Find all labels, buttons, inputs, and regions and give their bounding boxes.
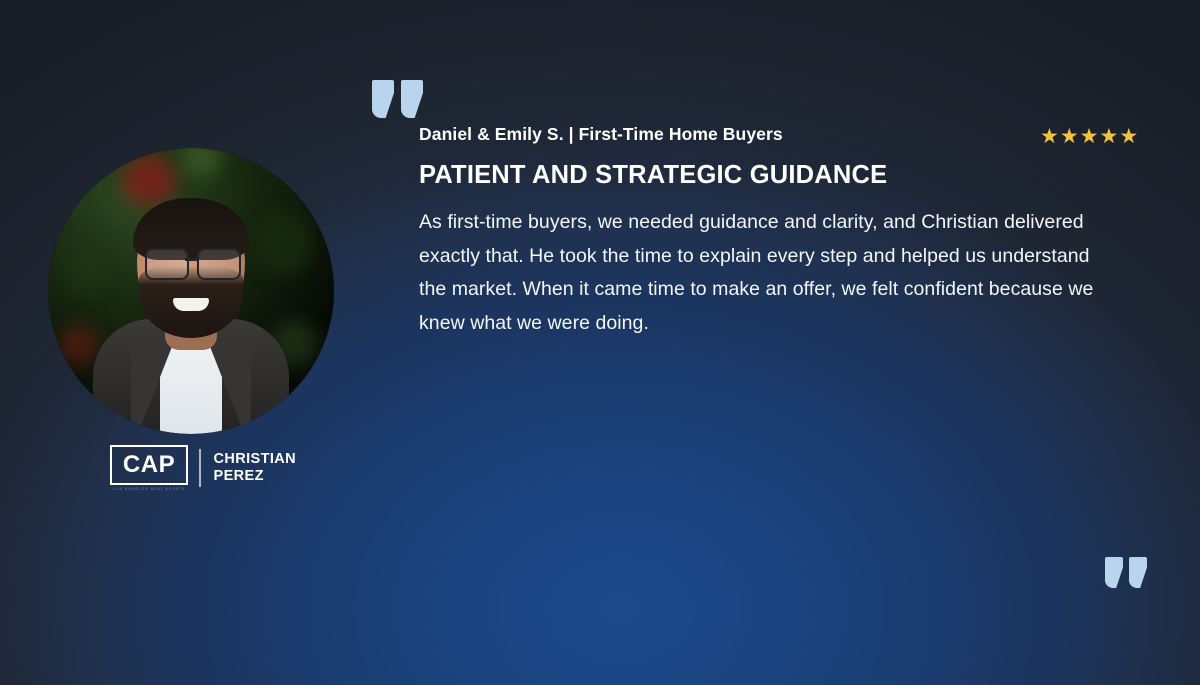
portrait-smile [173,298,209,311]
bokeh-green-2 [65,234,109,294]
portrait-lapel-left [131,339,175,434]
cap-logo-tagline: LOS ANGELES REAL ESTATE [113,488,185,491]
testimonial-content: Daniel & Emily S. | First-Time Home Buye… [419,124,1119,340]
agent-portrait [48,148,334,434]
quote-close-glyph-2 [1129,557,1147,588]
testimonial-attribution: Daniel & Emily S. | First-Time Home Buye… [419,124,1119,145]
cap-logo-box: CAP [110,445,188,485]
quote-close-glyph-1 [1105,557,1123,588]
testimonial-headline: PATIENT AND STRATEGIC GUIDANCE [419,161,1119,190]
portrait-eyeglass-left [145,248,189,280]
quote-close-icon [1105,557,1147,588]
portrait-eyeglass-right [197,248,241,280]
portrait-image [48,148,334,434]
cap-logo-text: CAP [123,453,175,477]
quote-open-glyph-2 [401,80,423,118]
agent-name-last: PEREZ [214,468,297,485]
portrait-eyeglass-bridge [185,258,197,261]
agent-name: CHRISTIAN PEREZ [214,451,297,485]
bokeh-green-3 [254,211,312,275]
agent-name-first: CHRISTIAN [214,451,297,468]
star-icon-5: ★ [1119,126,1138,147]
cap-logo: CAP LOS ANGELES REAL ESTATE [112,445,186,491]
bokeh-red-1 [122,154,176,206]
quote-open-glyph-1 [372,80,394,118]
testimonial-body: As first-time buyers, we needed guidance… [419,206,1109,340]
portrait-lapel-right [207,339,251,434]
brand-lockup: CAP LOS ANGELES REAL ESTATE CHRISTIAN PE… [112,445,296,491]
brand-divider [199,449,201,487]
quote-open-icon [372,80,423,118]
testimonial-card: CAP LOS ANGELES REAL ESTATE CHRISTIAN PE… [0,0,1200,685]
